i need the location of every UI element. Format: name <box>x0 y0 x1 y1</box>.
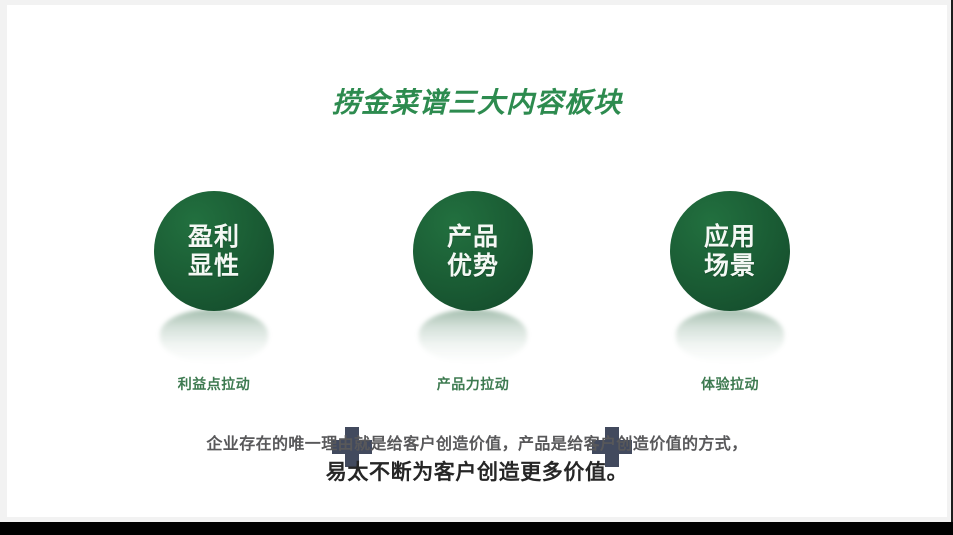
three-pillar-diagram: 盈利 显性 产品 优势 <box>7 191 947 311</box>
pillar-item-1[interactable]: 盈利 显性 <box>154 191 274 311</box>
pillar-label-line2: 场景 <box>704 251 756 280</box>
pillar-label-line1: 产品 <box>447 222 499 251</box>
pillar-reflection-icon <box>676 309 784 363</box>
pillar-label-line2: 显性 <box>188 251 240 280</box>
pillar-caption-3: 体验拉动 <box>630 374 830 394</box>
pillar-reflection-icon <box>160 309 268 363</box>
pillar-reflection-icon <box>419 309 527 363</box>
pillar-label-line2: 优势 <box>447 251 499 280</box>
pillar-caption-2: 产品力拉动 <box>373 374 573 394</box>
pillar-item-3[interactable]: 应用 场景 <box>670 191 790 311</box>
pillar-item-2[interactable]: 产品 优势 <box>413 191 533 311</box>
slide-viewport: 捞金菜谱三大内容板块 盈利 显性 产品 优势 <box>0 0 953 535</box>
closing-statement-line-1: 企业存在的唯一理由就是给客户创造价值，产品是给客户创造价值的方式， <box>7 432 947 455</box>
pillar-caption-1: 利益点拉动 <box>114 374 314 394</box>
pillar-circle-2[interactable]: 产品 优势 <box>413 191 533 311</box>
pillar-circle-1[interactable]: 盈利 显性 <box>154 191 274 311</box>
page-title: 捞金菜谱三大内容板块 <box>7 81 947 121</box>
pillar-label-line1: 盈利 <box>188 222 240 251</box>
bottom-black-band <box>0 522 953 535</box>
slide-canvas: 捞金菜谱三大内容板块 盈利 显性 产品 优势 <box>7 5 947 517</box>
pillar-circle-3[interactable]: 应用 场景 <box>670 191 790 311</box>
closing-statement-line-2: 易太不断为客户创造更多价值。 <box>7 459 947 486</box>
closing-statement: 企业存在的唯一理由就是给客户创造价值，产品是给客户创造价值的方式， 易太不断为客… <box>7 432 947 486</box>
pillar-label-line1: 应用 <box>704 222 756 251</box>
